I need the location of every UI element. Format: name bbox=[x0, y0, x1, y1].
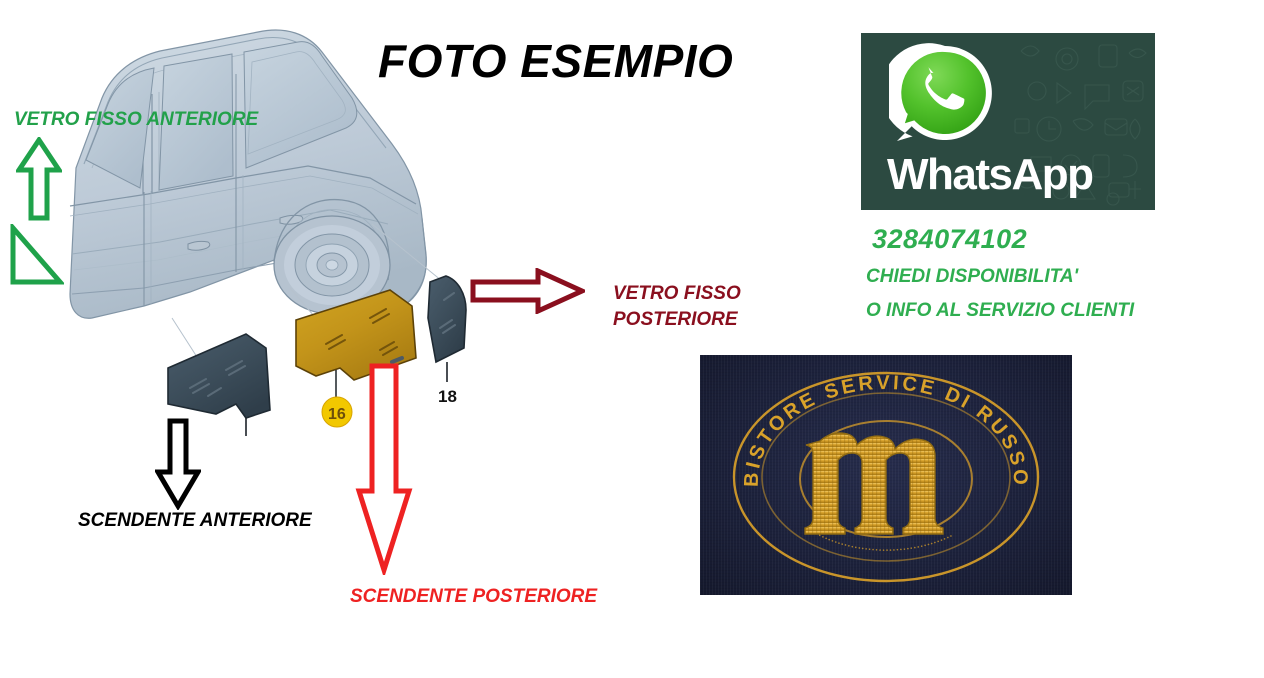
green-up-arrow-icon bbox=[16, 137, 62, 221]
callout-vetro-fisso-anteriore: VETRO FISSO ANTERIORE bbox=[14, 109, 258, 131]
callout-scendente-anteriore: SCENDENTE ANTERIORE bbox=[78, 510, 312, 532]
callout-scendente-posteriore: SCENDENTE POSTERIORE bbox=[350, 586, 597, 608]
green-triangle-icon bbox=[8, 224, 64, 286]
black-down-arrow-icon bbox=[155, 418, 201, 510]
car-exploded-diagram: 14 16 17 bbox=[40, 18, 510, 438]
contact-line-customer-service: O INFO AL SERVIZIO CLIENTI bbox=[866, 300, 1134, 322]
svg-text:16: 16 bbox=[328, 406, 346, 423]
callout-vetro-fisso-posteriore-line2: POSTERIORE bbox=[613, 309, 738, 330]
part-18-rear-fixed-glass: 18 bbox=[428, 276, 466, 406]
dark-red-right-arrow-icon bbox=[470, 268, 585, 314]
shop-logo-emblem: MRICAMBISTORE SERVICE DI RUSSO MARCO •••… bbox=[700, 355, 1072, 595]
phone-number[interactable]: 3284074102 bbox=[872, 224, 1027, 255]
shop-logo-photo: MRICAMBISTORE SERVICE DI RUSSO MARCO •••… bbox=[700, 355, 1072, 595]
contact-line-availability: CHIEDI DISPONIBILITA' bbox=[866, 266, 1078, 288]
screenshot-root: FOTO ESEMPIO bbox=[0, 0, 1264, 678]
whatsapp-wordmark: WhatsApp bbox=[887, 153, 1093, 197]
red-down-arrow-icon bbox=[355, 363, 413, 575]
whatsapp-phone-bubble-icon bbox=[889, 41, 1001, 153]
svg-text:18: 18 bbox=[438, 387, 457, 406]
whatsapp-banner: WhatsApp bbox=[861, 33, 1155, 210]
callout-vetro-fisso-posteriore-line1: VETRO FISSO bbox=[613, 283, 741, 304]
callout-vetro-fisso-posteriore: VETRO FISSO POSTERIORE bbox=[613, 281, 741, 332]
